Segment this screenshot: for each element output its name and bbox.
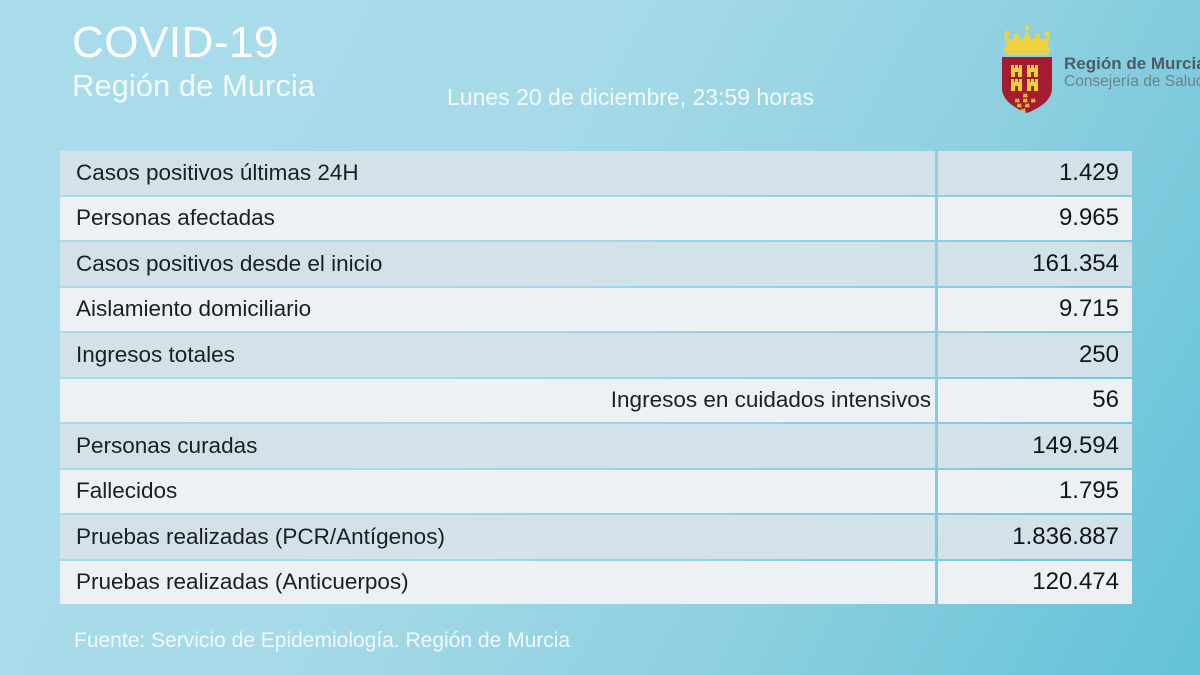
source-footnote: Fuente: Servicio de Epidemiología. Regió… xyxy=(74,629,570,653)
row-value: 9.965 xyxy=(938,197,1132,241)
region-de-murcia-logo: Región de Murcia Consejería de Salud xyxy=(996,22,1186,114)
row-label: Fallecidos xyxy=(60,470,935,514)
covid-stats-slide: COVID-19 Región de Murcia Lunes 20 de di… xyxy=(0,0,1200,675)
murcia-coat-of-arms-icon xyxy=(996,22,1058,114)
row-label: Ingresos en cuidados intensivos xyxy=(60,379,935,423)
row-label: Personas curadas xyxy=(60,424,935,468)
row-value: 250 xyxy=(938,333,1132,377)
row-label: Casos positivos últimas 24H xyxy=(60,151,935,195)
row-value: 149.594 xyxy=(938,424,1132,468)
page-subtitle: Región de Murcia xyxy=(72,68,315,104)
logo-text-block: Región de Murcia Consejería de Salud xyxy=(1064,54,1200,90)
row-label: Casos positivos desde el inicio xyxy=(60,242,935,286)
report-datetime: Lunes 20 de diciembre, 23:59 horas xyxy=(447,84,814,111)
table-row: Casos positivos desde el inicio161.354 xyxy=(60,242,1132,286)
row-label: Personas afectadas xyxy=(60,197,935,241)
table-row: Ingresos en cuidados intensivos56 xyxy=(60,379,1132,423)
table-row: Ingresos totales250 xyxy=(60,333,1132,377)
table-row: Pruebas realizadas (Anticuerpos)120.474 xyxy=(60,561,1132,605)
table-row: Aislamiento domiciliario9.715 xyxy=(60,288,1132,332)
row-value: 56 xyxy=(938,379,1132,423)
table-row: Personas curadas149.594 xyxy=(60,424,1132,468)
row-value: 120.474 xyxy=(938,561,1132,605)
table-row: Pruebas realizadas (PCR/Antígenos)1.836.… xyxy=(60,515,1132,559)
row-value: 9.715 xyxy=(938,288,1132,332)
row-value: 1.836.887 xyxy=(938,515,1132,559)
covid-statistics-table: Casos positivos últimas 24H1.429Personas… xyxy=(60,151,1132,604)
row-value: 1.429 xyxy=(938,151,1132,195)
table-row: Fallecidos1.795 xyxy=(60,470,1132,514)
row-label: Pruebas realizadas (Anticuerpos) xyxy=(60,561,935,605)
table-row: Casos positivos últimas 24H1.429 xyxy=(60,151,1132,195)
logo-department-name: Consejería de Salud xyxy=(1064,73,1200,90)
row-label: Ingresos totales xyxy=(60,333,935,377)
row-label: Pruebas realizadas (PCR/Antígenos) xyxy=(60,515,935,559)
row-value: 1.795 xyxy=(938,470,1132,514)
page-title: COVID-19 xyxy=(72,20,315,66)
table-row: Personas afectadas9.965 xyxy=(60,197,1132,241)
logo-region-name: Región de Murcia xyxy=(1064,54,1200,73)
row-label: Aislamiento domiciliario xyxy=(60,288,935,332)
row-value: 161.354 xyxy=(938,242,1132,286)
slide-header: COVID-19 Región de Murcia Lunes 20 de di… xyxy=(0,0,1200,150)
title-block: COVID-19 Región de Murcia xyxy=(72,20,315,104)
